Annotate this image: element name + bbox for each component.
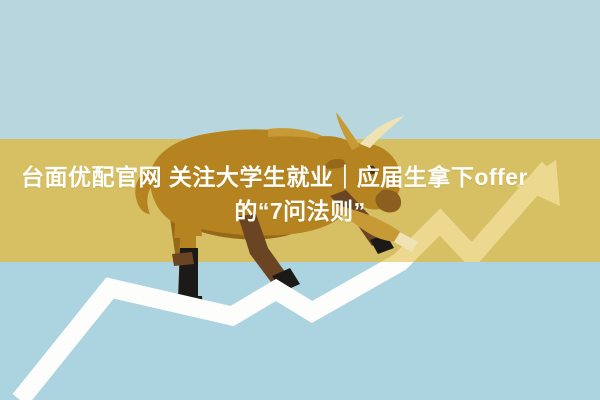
illustration-canvas <box>0 0 600 400</box>
bull-eye <box>368 166 375 175</box>
bull-hind-hoof-far <box>172 252 194 266</box>
cover-image: 台面优配官网 关注大学生就业｜应届生拿下offer 的“7问法则” <box>0 0 600 400</box>
sky-background-bottom <box>0 261 600 400</box>
sky-background-top <box>0 0 600 140</box>
